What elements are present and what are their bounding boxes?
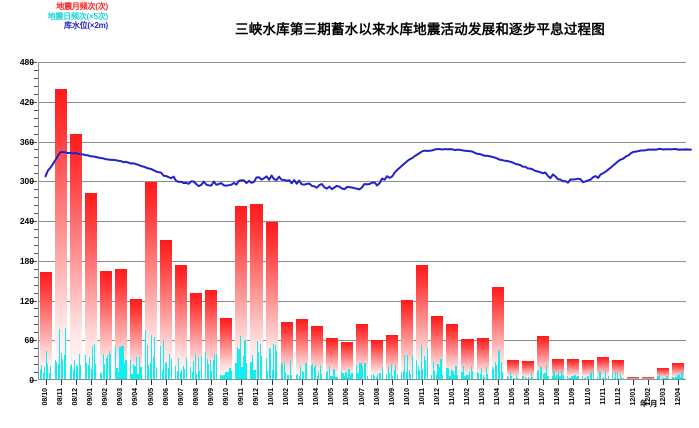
x-axis-tick <box>513 380 514 385</box>
x-axis-label: 10/06 <box>343 388 350 406</box>
x-axis-label: 10/12 <box>434 388 441 406</box>
x-axis-tick <box>603 380 604 385</box>
x-axis-tick <box>121 380 122 385</box>
x-axis-label: 11/06 <box>524 388 531 405</box>
x-axis-tick <box>136 380 137 385</box>
x-axis-label: 11/02 <box>464 388 471 405</box>
x-axis-tick <box>483 380 484 385</box>
y-axis-minor-tick <box>34 269 38 270</box>
y-axis-minor-tick <box>34 237 38 238</box>
x-axis-tick <box>76 380 77 385</box>
legend-item-daily-quake-frequency: 地震日频次(×5次) <box>0 12 118 22</box>
x-axis-tick <box>678 380 679 385</box>
x-axis-label: 10/07 <box>359 388 366 406</box>
x-axis-label: 10/02 <box>283 388 290 406</box>
y-axis-minor-tick <box>34 78 38 79</box>
x-axis-tick <box>61 380 62 385</box>
x-axis-tick <box>543 380 544 385</box>
x-axis-label: 08/10 <box>42 388 49 406</box>
legend-item-reservoir-water-level: 库水位(×2m) <box>0 21 118 31</box>
y-axis-minor-tick <box>34 126 38 127</box>
y-axis-minor-tick <box>34 308 38 309</box>
x-axis-label: 11/08 <box>554 388 561 405</box>
x-axis-label: 11/04 <box>494 388 501 405</box>
x-axis-label: 09/07 <box>178 388 185 406</box>
x-axis-label: 11/10 <box>585 388 592 405</box>
x-axis-tick <box>91 380 92 385</box>
x-axis-tick <box>272 380 273 385</box>
y-axis-minor-tick <box>34 134 38 135</box>
x-axis-label: 10/03 <box>298 388 305 406</box>
y-axis-minor-tick <box>34 229 38 230</box>
x-axis-tick <box>558 380 559 385</box>
x-axis-tick <box>332 380 333 385</box>
y-axis-minor-tick <box>34 356 38 357</box>
y-axis-label: 420 <box>20 97 34 107</box>
x-axis-label: 10/08 <box>374 388 381 406</box>
x-axis-label: 11/03 <box>479 388 486 405</box>
x-axis-tick <box>618 380 619 385</box>
x-axis-tick <box>347 380 348 385</box>
x-axis-tick <box>437 380 438 385</box>
y-axis-minor-tick <box>34 165 38 166</box>
y-axis-minor-tick <box>34 293 38 294</box>
x-axis-label: 08/12 <box>72 388 79 406</box>
x-axis-tick <box>302 380 303 385</box>
x-axis-tick <box>241 380 242 385</box>
y-axis-label: 240 <box>20 216 34 226</box>
y-axis-label: 60 <box>25 335 34 345</box>
x-axis-label: 11/09 <box>569 388 576 405</box>
x-axis-tick <box>452 380 453 385</box>
legend-item-monthly-quake-frequency: 地震月频次(次) <box>0 2 118 12</box>
x-axis-label: 09/09 <box>208 388 215 406</box>
y-axis-minor-tick <box>34 372 38 373</box>
y-axis-minor-tick <box>34 110 38 111</box>
x-axis-label: 10/04 <box>313 388 320 406</box>
x-axis-tick <box>633 380 634 385</box>
x-axis-tick <box>467 380 468 385</box>
chart-legend: 地震月频次(次) 地震日频次(×5次) 库水位(×2m) <box>0 2 118 31</box>
x-axis-tick <box>588 380 589 385</box>
x-axis-tick <box>528 380 529 385</box>
x-axis-label: 10/09 <box>389 388 396 406</box>
water-level-line-chart <box>38 62 686 380</box>
x-axis-label: 11/05 <box>509 388 516 405</box>
y-axis-minor-tick <box>34 157 38 158</box>
y-axis-minor-tick <box>34 245 38 246</box>
y-axis-minor-tick <box>34 70 38 71</box>
x-axis-tick <box>663 380 664 385</box>
y-axis-minor-tick <box>34 86 38 87</box>
chart-title: 三峡水库第三期蓄水以来水库地震活动发展和逐步平息过程图 <box>150 18 690 38</box>
y-axis-label: 300 <box>20 176 34 186</box>
x-axis-tick <box>226 380 227 385</box>
x-axis-label: 11/01 <box>449 388 456 405</box>
x-axis-tick <box>362 380 363 385</box>
y-axis-minor-tick <box>34 189 38 190</box>
x-axis-label: 09/10 <box>223 388 230 406</box>
x-axis-label: 08/11 <box>57 388 64 405</box>
x-axis-tick <box>287 380 288 385</box>
y-axis-minor-tick <box>34 253 38 254</box>
x-axis-tick <box>573 380 574 385</box>
water-level-line <box>46 149 692 189</box>
y-axis-minor-tick <box>34 332 38 333</box>
x-axis-label: 10/11 <box>419 388 426 405</box>
x-axis-tick <box>181 380 182 385</box>
x-axis-tick <box>257 380 258 385</box>
y-axis-minor-tick <box>34 348 38 349</box>
x-axis-tick <box>46 380 47 385</box>
y-axis-minor-tick <box>34 173 38 174</box>
y-axis-label: 120 <box>20 296 34 306</box>
y-axis-minor-tick <box>34 213 38 214</box>
y-axis-minor-tick <box>34 94 38 95</box>
x-axis-tick <box>317 380 318 385</box>
y-axis-label: 0 <box>29 375 34 385</box>
x-axis-label: 09/04 <box>132 388 139 406</box>
x-axis-tick <box>648 380 649 385</box>
x-axis-label: 11/07 <box>539 388 546 405</box>
x-axis-label: 12/03 <box>660 388 667 406</box>
x-axis-label: 09/02 <box>102 388 109 406</box>
x-axis-label: 12/01 <box>630 388 637 406</box>
chart-root: 地震月频次(次) 地震日频次(×5次) 库水位(×2m) 三峡水库第三期蓄水以来… <box>0 0 699 428</box>
y-axis-minor-tick <box>34 197 38 198</box>
x-axis-tick <box>106 380 107 385</box>
y-axis-minor-tick <box>34 324 38 325</box>
x-axis-label: 09/05 <box>148 388 155 406</box>
y-axis-minor-tick <box>34 277 38 278</box>
y-axis-label: 180 <box>20 256 34 266</box>
x-axis-label: 09/06 <box>163 388 170 406</box>
x-axis-tick <box>407 380 408 385</box>
x-axis-label: 12/04 <box>675 388 682 406</box>
y-axis-minor-tick <box>34 364 38 365</box>
x-axis-tick <box>377 380 378 385</box>
x-axis-tick <box>422 380 423 385</box>
x-axis-label: 09/08 <box>193 388 200 406</box>
y-axis-minor-tick <box>34 316 38 317</box>
x-axis-label: 09/11 <box>238 388 245 405</box>
x-axis-tick <box>166 380 167 385</box>
x-axis-tick <box>196 380 197 385</box>
x-axis-tick <box>392 380 393 385</box>
y-axis-label: 360 <box>20 137 34 147</box>
y-axis-minor-tick <box>34 118 38 119</box>
x-axis-label: 09/01 <box>87 388 94 406</box>
x-axis-label: 10/01 <box>268 388 275 406</box>
y-axis-minor-tick <box>34 205 38 206</box>
plot-area: 06012018024030036042048008/1008/1108/120… <box>38 62 686 380</box>
x-axis-label: 09/03 <box>117 388 124 406</box>
y-axis-minor-tick <box>34 285 38 286</box>
x-axis-label: 09/12 <box>253 388 260 406</box>
x-axis-label: 11/11 <box>600 388 607 405</box>
x-axis-title: 年-月 <box>640 398 658 409</box>
x-axis-label: 10/05 <box>328 388 335 406</box>
x-axis-label: 10/10 <box>404 388 411 406</box>
y-axis-label: 480 <box>20 57 34 67</box>
x-axis-label: 11/12 <box>615 388 622 405</box>
x-axis-tick <box>498 380 499 385</box>
y-axis-minor-tick <box>34 149 38 150</box>
x-axis-tick <box>151 380 152 385</box>
x-axis-tick <box>211 380 212 385</box>
